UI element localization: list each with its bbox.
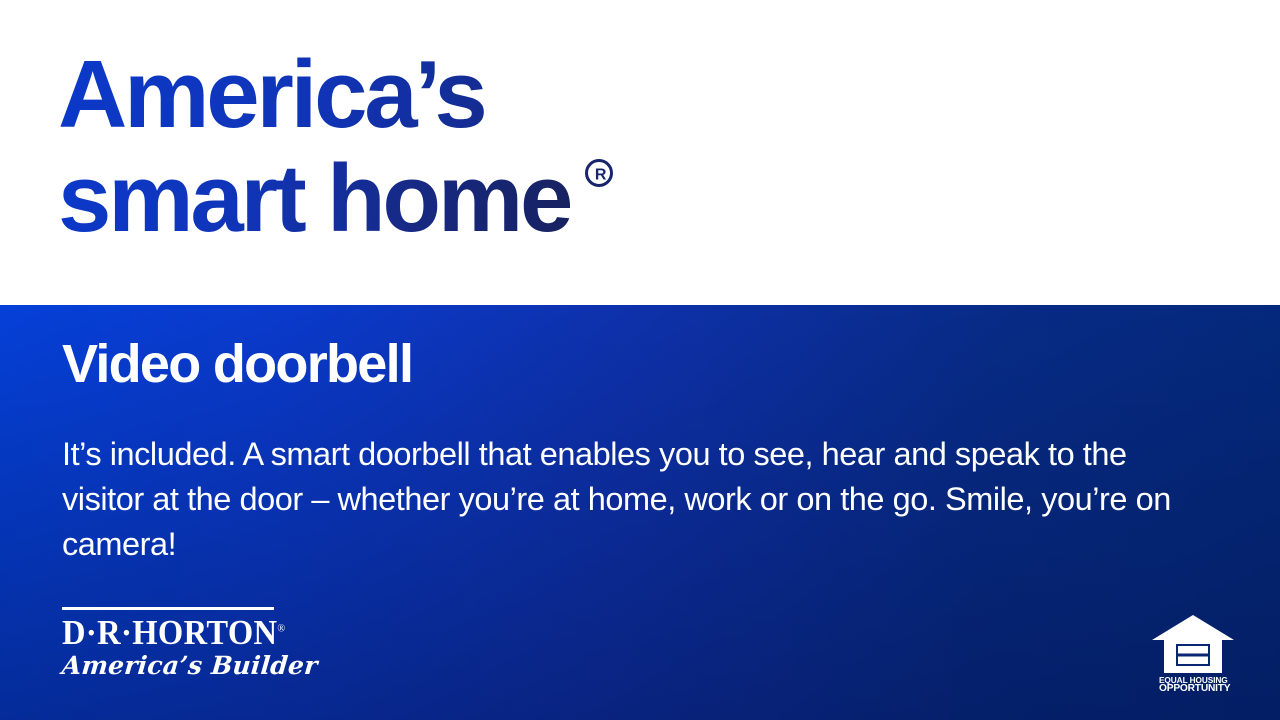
feature-banner: Video doorbell It’s included. A smart do… [0, 305, 1280, 720]
dr-horton-logo: D·R·HORTON® America’s Builder [62, 607, 292, 678]
brand-headline-line-1: America’s [58, 48, 758, 142]
dr-horton-rule-divider [62, 607, 274, 610]
slide-canvas: America’s smart home R Video doorbell It… [0, 0, 1280, 720]
dr-horton-wordmark-text: D·R·HORTON [62, 613, 277, 652]
brand-header-block: America’s smart home R [0, 0, 1280, 305]
brand-headline-line-2: smart home R [58, 152, 570, 246]
brand-headline-line-2-text: smart home [58, 145, 570, 252]
equal-housing-caption: EQUAL HOUSING OPPORTUNITY [1150, 676, 1236, 695]
smart-home-brand-lockup: America’s smart home R [58, 48, 758, 246]
dr-horton-wordmark: D·R·HORTON® [62, 615, 276, 650]
equal-housing-opportunity-logo: EQUAL HOUSING OPPORTUNITY [1150, 613, 1236, 695]
equal-housing-caption-line-2: OPPORTUNITY [1159, 684, 1236, 694]
registered-trademark-icon: R [584, 158, 614, 188]
equal-housing-house-icon [1150, 613, 1236, 675]
feature-description: It’s included. A smart doorbell that ena… [62, 432, 1192, 567]
dr-horton-tagline: America’s Builder [61, 653, 293, 678]
svg-text:R: R [595, 167, 607, 184]
feature-title: Video doorbell [62, 337, 412, 391]
dr-horton-registered-icon: ® [277, 622, 285, 634]
